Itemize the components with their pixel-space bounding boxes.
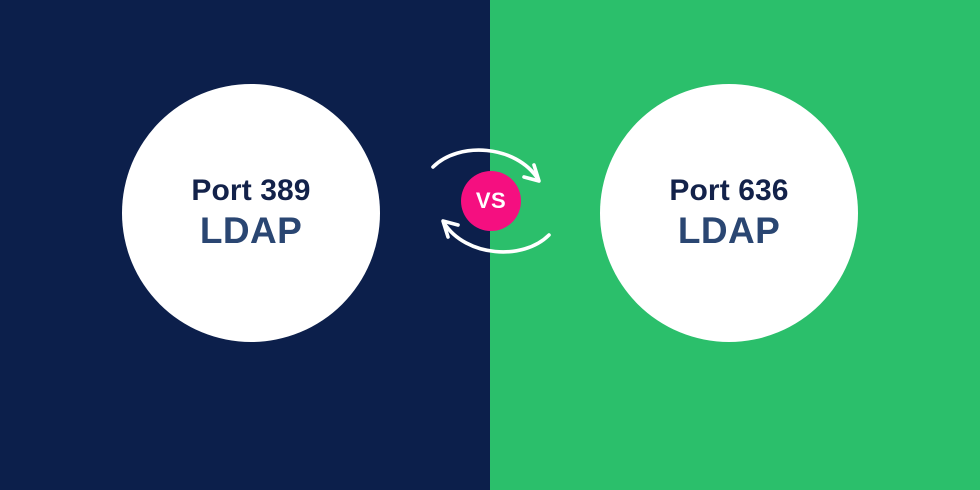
left-port-label: Port 389	[191, 175, 310, 207]
right-port-label: Port 636	[669, 175, 788, 207]
versus-badge-label: VS	[476, 190, 506, 212]
right-option-bubble: Port 636 LDAP	[600, 84, 858, 342]
versus-badge: VS	[461, 171, 521, 231]
left-protocol-label: LDAP	[200, 212, 302, 251]
versus-comparison-graphic: Port 389 LDAP Port 636 LDAP VS	[0, 0, 980, 490]
left-option-bubble: Port 389 LDAP	[122, 84, 380, 342]
right-protocol-label: LDAP	[678, 212, 780, 251]
